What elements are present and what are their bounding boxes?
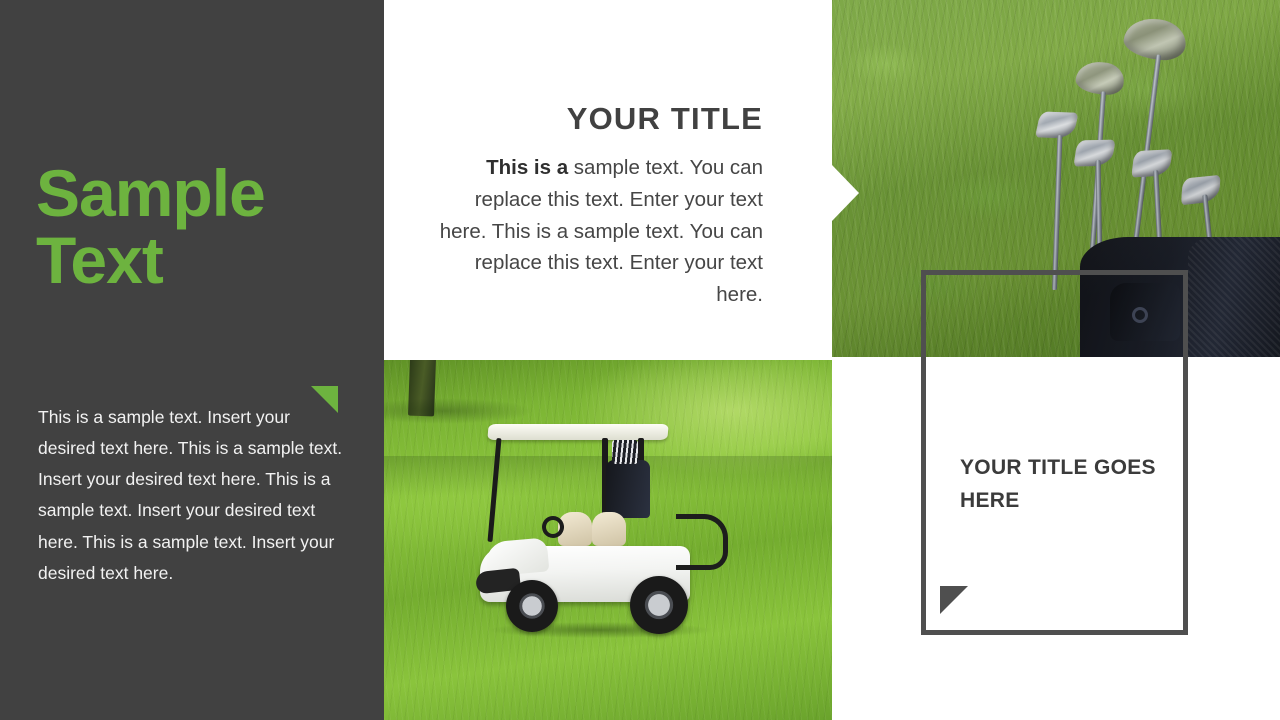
presentation-slide: YOUR TITLE This is a sample text. You ca… <box>0 0 1280 720</box>
cart-golf-bag <box>606 460 650 518</box>
cart-front-wheel <box>506 580 558 632</box>
main-content-panel: YOUR TITLE This is a sample text. You ca… <box>384 0 832 357</box>
tree-shadow <box>384 398 534 424</box>
cart-rear-rail <box>676 514 728 570</box>
golf-cart <box>480 424 760 654</box>
chevron-right-icon <box>832 165 859 221</box>
main-paragraph: This is a sample text. You can replace t… <box>433 152 763 311</box>
cart-front-post <box>487 438 501 542</box>
cart-seat-right <box>592 512 626 546</box>
paragraph-bold-lead: This is a <box>486 156 568 179</box>
sidebar-heading: Sample Text <box>36 160 366 295</box>
golf-cart-image <box>384 360 832 720</box>
sidebar: Sample Text This is a sample text. Inser… <box>0 0 384 720</box>
sidebar-paragraph: This is a sample text. Insert your desir… <box>38 402 348 589</box>
callout-box-title: YOUR TITLE GOES HERE <box>960 452 1165 517</box>
page-title: YOUR TITLE <box>443 101 763 137</box>
cart-rear-wheel <box>630 576 688 634</box>
gray-triangle-icon <box>940 586 968 614</box>
